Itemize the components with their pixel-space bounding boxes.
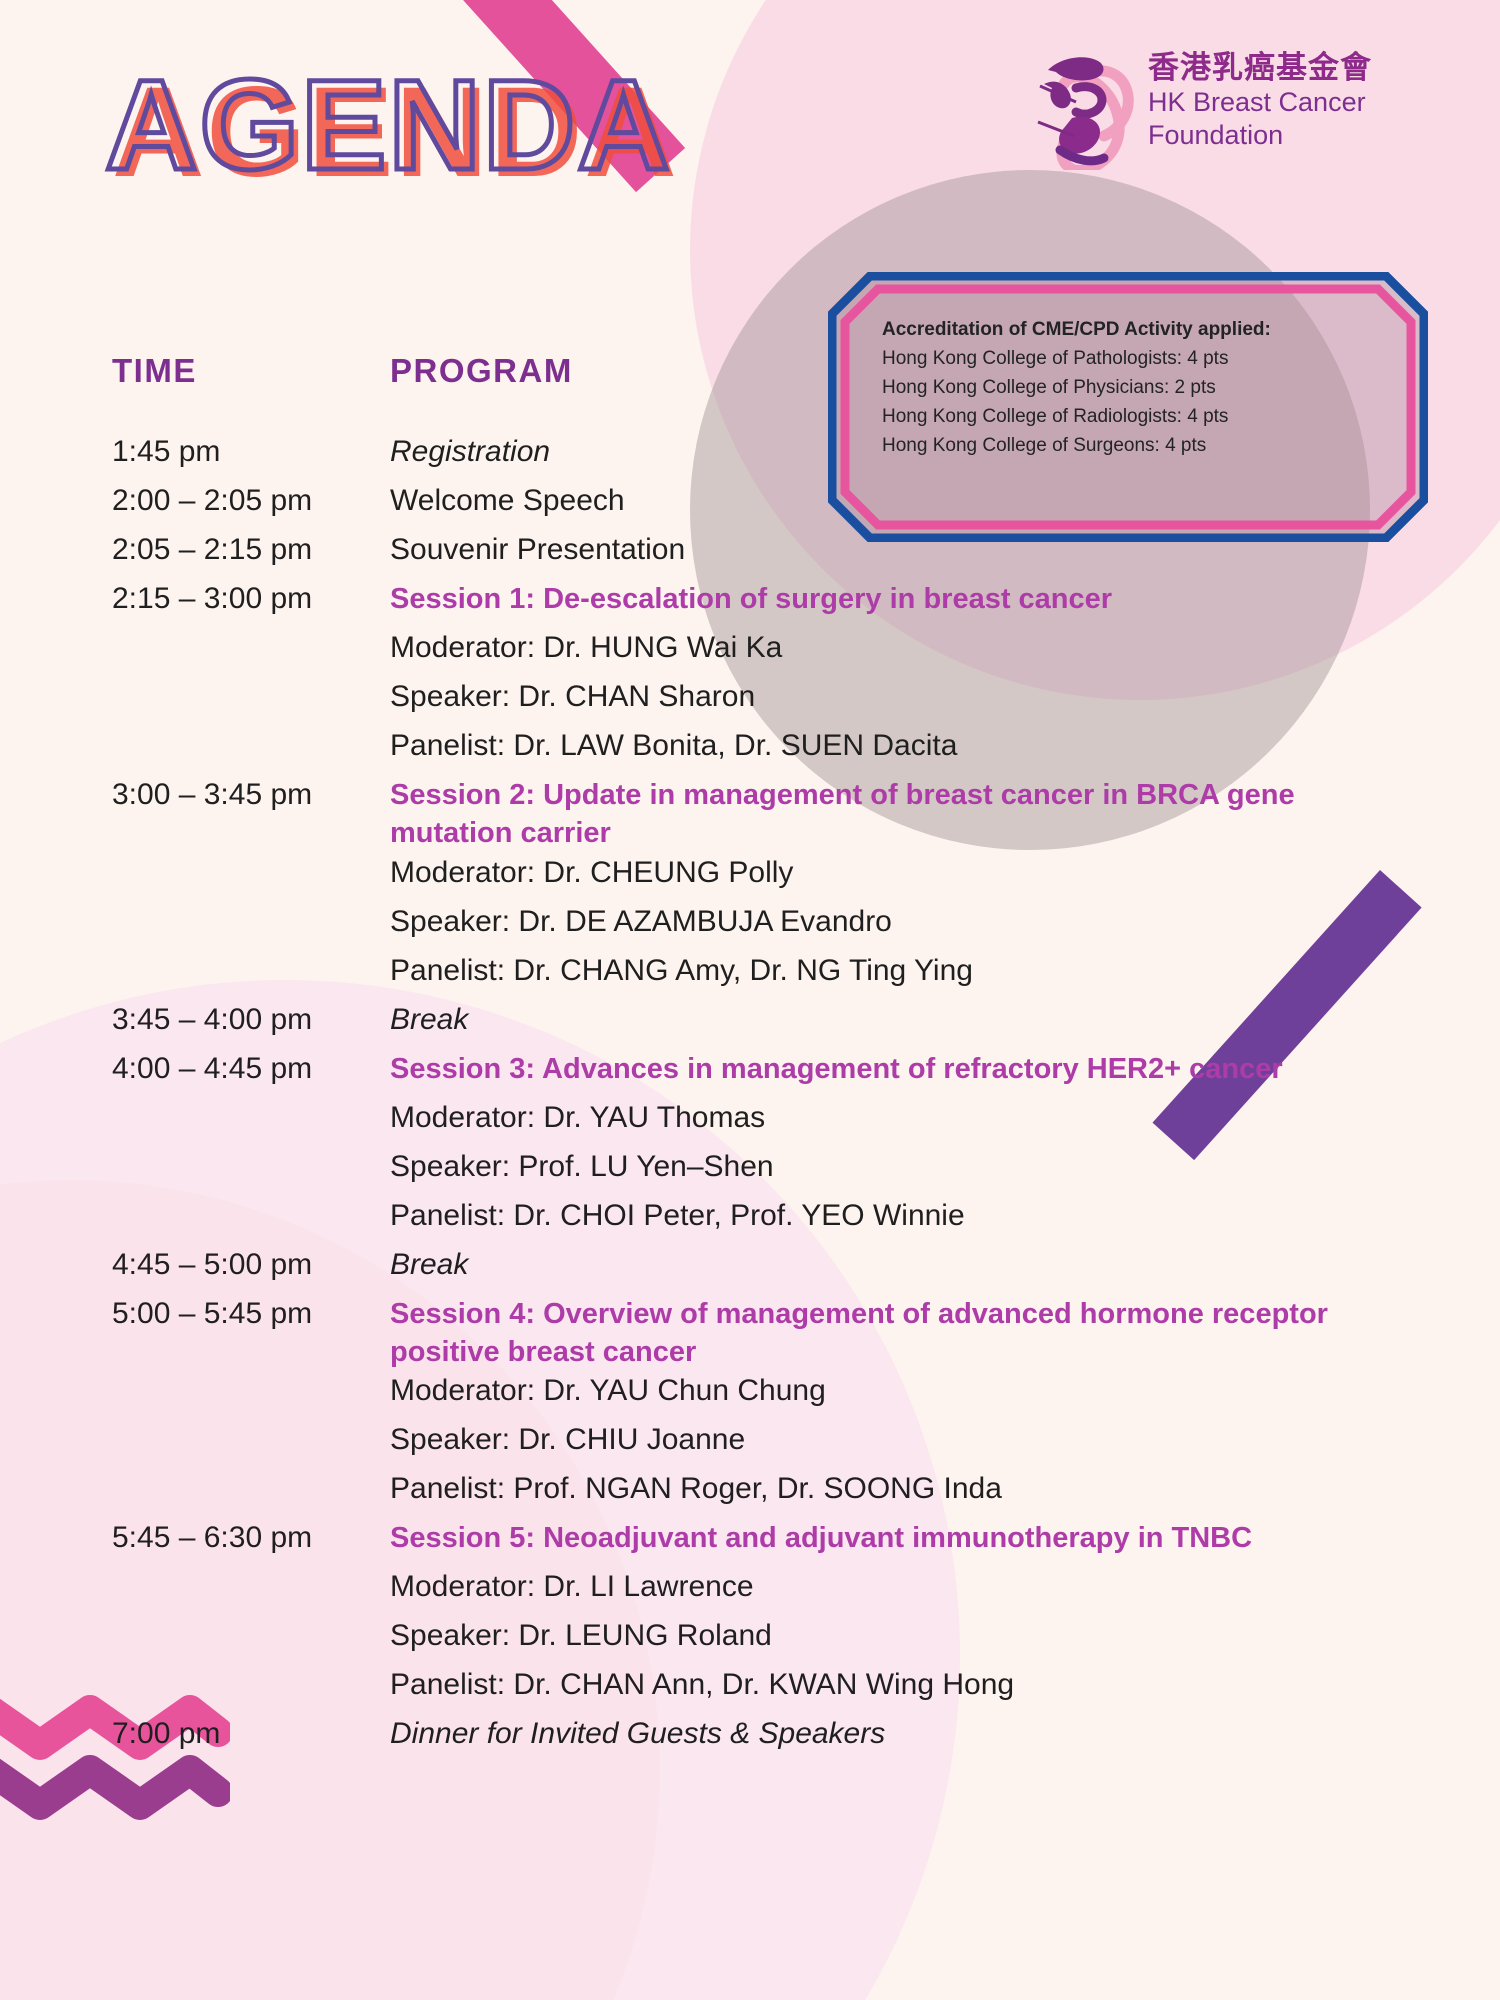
table-row: 7:00 pmDinner for Invited Guests & Speak… [112, 1714, 1402, 1763]
cell-time: 2:00 – 2:05 pm [112, 481, 390, 520]
cell-program: Speaker: Dr. CHAN Sharon [390, 677, 1402, 716]
table-row: 2:00 – 2:05 pmWelcome Speech [112, 481, 1402, 530]
agenda-poster: AGENDA 香港乳癌基金會 HK Breast Cancer Foundati… [0, 0, 1500, 2000]
cell-program: Moderator: Dr. YAU Thomas [390, 1098, 1402, 1137]
cell-time: 4:00 – 4:45 pm [112, 1049, 390, 1088]
cell-time: 7:00 pm [112, 1714, 390, 1753]
column-header-program: PROGRAM [390, 352, 573, 390]
logo-name-chinese: 香港乳癌基金會 [1148, 50, 1372, 86]
brush-calligraphy-ribbon-icon [1030, 40, 1140, 170]
cell-program: Souvenir Presentation [390, 530, 1402, 569]
hkbcf-logo: 香港乳癌基金會 HK Breast Cancer Foundation [1030, 40, 1372, 170]
table-row: 3:45 – 4:00 pmBreak [112, 1000, 1402, 1049]
table-row: Panelist: Dr. CHOI Peter, Prof. YEO Winn… [112, 1196, 1402, 1245]
cell-program-session-title: Session 2: Update in management of breas… [390, 776, 1402, 853]
table-row: Speaker: Dr. CHIU Joanne [112, 1420, 1402, 1469]
table-row: 1:45 pmRegistration [112, 432, 1402, 481]
table-row: Moderator: Dr. LI Lawrence [112, 1567, 1402, 1616]
cell-program-session-title: Session 4: Overview of management of adv… [390, 1295, 1402, 1372]
accreditation-title: Accreditation of CME/CPD Activity applie… [882, 316, 1382, 345]
cell-program: Panelist: Dr. CHOI Peter, Prof. YEO Winn… [390, 1196, 1402, 1235]
cell-time: 2:15 – 3:00 pm [112, 579, 390, 618]
cell-time: 1:45 pm [112, 432, 390, 471]
table-row: Speaker: Dr. DE AZAMBUJA Evandro [112, 902, 1402, 951]
cell-time: 2:05 – 2:15 pm [112, 530, 390, 569]
cell-time: 4:45 – 5:00 pm [112, 1245, 390, 1284]
cell-program: Moderator: Dr. CHEUNG Polly [390, 853, 1402, 892]
cell-program-session-title: Session 3: Advances in management of ref… [390, 1050, 1402, 1088]
cell-program: Moderator: Dr. HUNG Wai Ka [390, 628, 1402, 667]
cell-time: 5:00 – 5:45 pm [112, 1294, 390, 1333]
table-row: Panelist: Dr. LAW Bonita, Dr. SUEN Dacit… [112, 726, 1402, 775]
table-row: 2:05 – 2:15 pmSouvenir Presentation [112, 530, 1402, 579]
cell-program: Break [390, 1245, 1402, 1284]
cell-program: Dinner for Invited Guests & Speakers [390, 1714, 1402, 1753]
table-row: 5:00 – 5:45 pmSession 4: Overview of man… [112, 1294, 1402, 1372]
cell-program-session-title: Session 1: De-escalation of surgery in b… [390, 580, 1402, 618]
table-row: 4:00 – 4:45 pmSession 3: Advances in man… [112, 1049, 1402, 1098]
logo-name-english-line1: HK Breast Cancer [1148, 86, 1372, 119]
table-row: Moderator: Dr. CHEUNG Polly [112, 853, 1402, 902]
table-row: Panelist: Dr. CHAN Ann, Dr. KWAN Wing Ho… [112, 1665, 1402, 1714]
cell-program: Welcome Speech [390, 481, 1402, 520]
table-row: Speaker: Dr. LEUNG Roland [112, 1616, 1402, 1665]
accreditation-line: Hong Kong College of Pathologists: 4 pts [882, 345, 1382, 374]
table-row: 5:45 – 6:30 pmSession 5: Neoadjuvant and… [112, 1518, 1402, 1567]
page-title: AGENDA [105, 62, 672, 190]
cell-time: 5:45 – 6:30 pm [112, 1518, 390, 1557]
table-row: Speaker: Prof. LU Yen–Shen [112, 1147, 1402, 1196]
cell-program: Speaker: Dr. CHIU Joanne [390, 1420, 1402, 1459]
table-row: Moderator: Dr. YAU Chun Chung [112, 1371, 1402, 1420]
table-row: 4:45 – 5:00 pmBreak [112, 1245, 1402, 1294]
cell-program: Panelist: Dr. CHANG Amy, Dr. NG Ting Yin… [390, 951, 1402, 990]
table-row: Speaker: Dr. CHAN Sharon [112, 677, 1402, 726]
cell-program: Registration [390, 432, 1402, 471]
cell-program: Speaker: Dr. DE AZAMBUJA Evandro [390, 902, 1402, 941]
table-row: Moderator: Dr. HUNG Wai Ka [112, 628, 1402, 677]
cell-program: Panelist: Prof. NGAN Roger, Dr. SOONG In… [390, 1469, 1402, 1508]
cell-time: 3:45 – 4:00 pm [112, 1000, 390, 1039]
cell-program: Break [390, 1000, 1402, 1039]
table-row: 3:00 – 3:45 pmSession 2: Update in manag… [112, 775, 1402, 853]
table-row: Panelist: Prof. NGAN Roger, Dr. SOONG In… [112, 1469, 1402, 1518]
table-row: 2:15 – 3:00 pmSession 1: De-escalation o… [112, 579, 1402, 628]
logo-name-english-line2: Foundation [1148, 119, 1372, 152]
cell-program: Speaker: Dr. LEUNG Roland [390, 1616, 1402, 1655]
agenda-rows: 1:45 pmRegistration2:00 – 2:05 pmWelcome… [112, 432, 1402, 1763]
cell-program-session-title: Session 5: Neoadjuvant and adjuvant immu… [390, 1519, 1402, 1557]
cell-program: Moderator: Dr. LI Lawrence [390, 1567, 1402, 1606]
cell-program: Speaker: Prof. LU Yen–Shen [390, 1147, 1402, 1186]
accreditation-line: Hong Kong College of Physicians: 2 pts [882, 374, 1382, 403]
column-header-time: TIME [112, 352, 197, 390]
cell-program: Panelist: Dr. CHAN Ann, Dr. KWAN Wing Ho… [390, 1665, 1402, 1704]
accreditation-line: Hong Kong College of Radiologists: 4 pts [882, 403, 1382, 432]
cell-time: 3:00 – 3:45 pm [112, 775, 390, 814]
cell-program: Panelist: Dr. LAW Bonita, Dr. SUEN Dacit… [390, 726, 1402, 765]
table-row: Panelist: Dr. CHANG Amy, Dr. NG Ting Yin… [112, 951, 1402, 1000]
cell-program: Moderator: Dr. YAU Chun Chung [390, 1371, 1402, 1410]
table-row: Moderator: Dr. YAU Thomas [112, 1098, 1402, 1147]
